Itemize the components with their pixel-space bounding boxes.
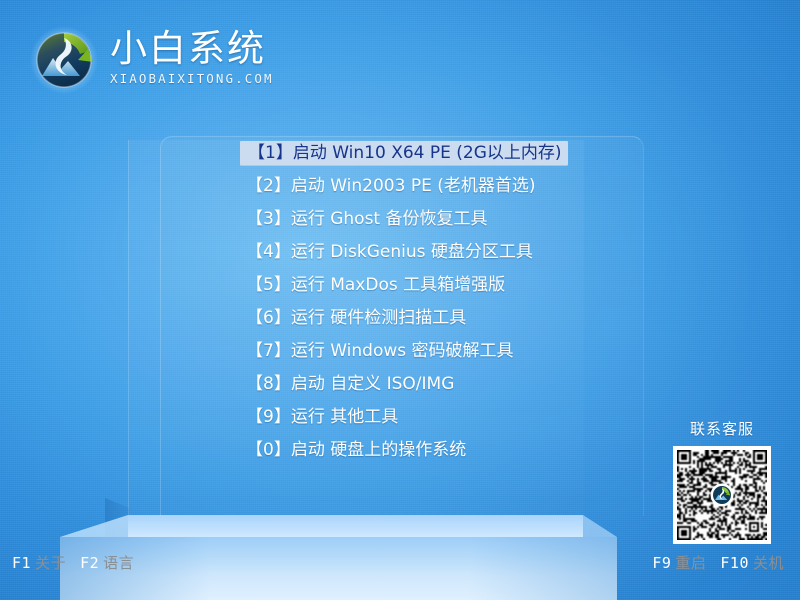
boot-menu-item-0[interactable]: 【0】启动 硬盘上的操作系统 bbox=[240, 438, 550, 462]
boot-menu-screen: 小白系统 XIAOBAIXITONG.COM 【1】启动 Win10 X64 P… bbox=[0, 0, 800, 600]
boot-menu-item-6[interactable]: 【6】运行 硬件检测扫描工具 bbox=[240, 306, 550, 330]
function-key-f1[interactable]: F1 bbox=[12, 554, 31, 572]
podium-top-left-bevel bbox=[60, 515, 128, 537]
boot-menu-item-7[interactable]: 【7】运行 Windows 密码破解工具 bbox=[240, 339, 550, 363]
function-keys-left[interactable]: F1关于F2语言 bbox=[12, 552, 134, 573]
boot-menu-item-5[interactable]: 【5】运行 MaxDos 工具箱增强版 bbox=[240, 273, 550, 297]
function-key-label-f2: 语言 bbox=[103, 554, 134, 572]
function-key-f9[interactable]: F9 bbox=[652, 554, 671, 572]
function-key-f10[interactable]: F10 bbox=[720, 554, 749, 572]
brand-name-en: XIAOBAIXITONG.COM bbox=[110, 71, 274, 86]
brand-name-cn: 小白系统 bbox=[110, 30, 274, 67]
boot-menu-item-8[interactable]: 【8】启动 自定义 ISO/IMG bbox=[240, 372, 550, 396]
function-key-f2[interactable]: F2 bbox=[80, 554, 99, 572]
qr-center-recycle-circle-logo-icon bbox=[712, 485, 732, 505]
contact-support-block: 联系客服 bbox=[666, 418, 778, 544]
podium-front-shade-right bbox=[470, 537, 617, 600]
brand-logo: 小白系统 XIAOBAIXITONG.COM bbox=[28, 24, 274, 96]
boot-menu-item-3[interactable]: 【3】运行 Ghost 备份恢复工具 bbox=[240, 207, 550, 231]
boot-menu-item-9[interactable]: 【9】运行 其他工具 bbox=[240, 405, 550, 429]
function-key-label-f9: 重启 bbox=[675, 554, 706, 572]
boot-menu-item-2[interactable]: 【2】启动 Win2003 PE (老机器首选) bbox=[240, 174, 550, 198]
podium-top-surface bbox=[128, 515, 583, 537]
function-keys-right[interactable]: F9重启F10关机 bbox=[652, 552, 784, 573]
boot-menu-item-1[interactable]: 【1】启动 Win10 X64 PE (2G以上内存) bbox=[240, 141, 568, 165]
function-key-label-f10: 关机 bbox=[753, 554, 784, 572]
boot-menu-list[interactable]: 【1】启动 Win10 X64 PE (2G以上内存)【2】启动 Win2003… bbox=[240, 141, 550, 471]
podium-top-right-bevel bbox=[583, 515, 617, 537]
recycle-circle-logo-icon bbox=[28, 24, 100, 96]
qr-code-icon[interactable] bbox=[673, 446, 771, 544]
function-key-label-f1: 关于 bbox=[35, 554, 66, 572]
boot-menu-item-4[interactable]: 【4】运行 DiskGenius 硬盘分区工具 bbox=[240, 240, 550, 264]
contact-support-title: 联系客服 bbox=[666, 418, 778, 439]
